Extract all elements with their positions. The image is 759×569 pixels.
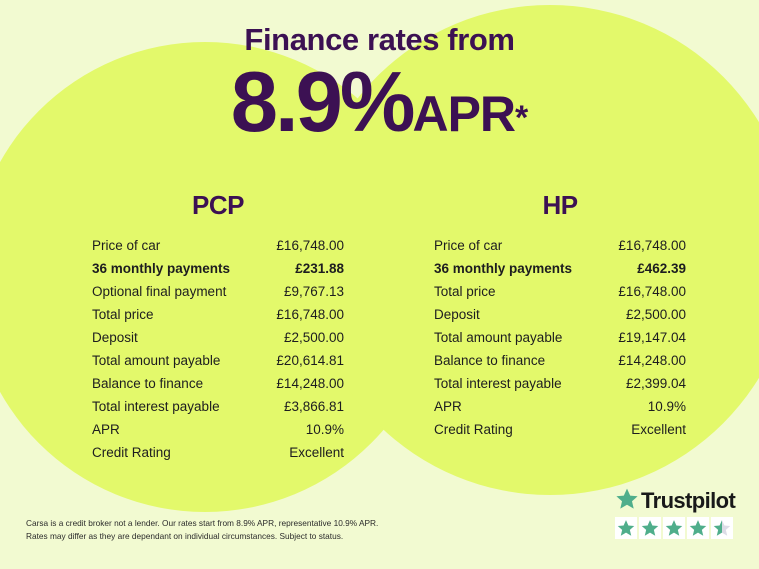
plan-row: Total price£16,748.00 (92, 307, 344, 330)
promo-banner: Finance rates from 8.9%APR* PCP Price of… (0, 0, 759, 569)
trustpilot-star-2 (639, 517, 661, 539)
trustpilot-star-1 (615, 517, 637, 539)
trustpilot-name: Trustpilot (641, 490, 735, 512)
trustpilot-star-icon (615, 487, 639, 516)
plan-row: Total interest payable£2,399.04 (434, 376, 686, 399)
plan-row-value: £2,500.00 (284, 330, 344, 345)
headline-rate: 8.9%APR* (0, 60, 759, 145)
plan-row: APR10.9% (92, 422, 344, 445)
plan-row-value: £2,399.04 (626, 376, 686, 391)
plan-row-value: 10.9% (306, 422, 344, 437)
page-title: Finance rates from (0, 22, 759, 58)
plan-row: Credit RatingExcellent (92, 445, 344, 468)
plan-table-pcp: PCP Price of car£16,748.0036 monthly pay… (92, 190, 344, 468)
trustpilot-star-5 (711, 517, 733, 539)
plan-row-value: £14,248.00 (618, 353, 686, 368)
plan-row: Total interest payable£3,866.81 (92, 399, 344, 422)
plan-row-label: Total interest payable (434, 376, 562, 391)
plan-row-label: Total amount payable (92, 353, 220, 368)
plan-row-label: Credit Rating (434, 422, 513, 437)
plan-rows-hp: Price of car£16,748.0036 monthly payment… (434, 238, 686, 445)
disclaimer-line-2: Rates may differ as they are dependant o… (26, 530, 446, 543)
plan-row-value: 10.9% (648, 399, 686, 414)
plan-row-value: £2,500.00 (626, 307, 686, 322)
rate-value: 8.9% (231, 55, 413, 150)
plan-row-label: 36 monthly payments (92, 261, 230, 276)
plan-row: Balance to finance£14,248.00 (92, 376, 344, 399)
plan-row-value: £16,748.00 (618, 284, 686, 299)
plan-row-label: Deposit (434, 307, 480, 322)
plan-row-value: £462.39 (637, 261, 686, 276)
trustpilot-rating-stars (615, 517, 735, 539)
plan-title-pcp: PCP (92, 190, 344, 221)
plan-row-label: Credit Rating (92, 445, 171, 460)
plan-row-label: 36 monthly payments (434, 261, 572, 276)
plan-row: Price of car£16,748.00 (92, 238, 344, 261)
plan-title-hp: HP (434, 190, 686, 221)
plan-row: Credit RatingExcellent (434, 422, 686, 445)
plan-row: Price of car£16,748.00 (434, 238, 686, 261)
plan-row-label: Balance to finance (434, 353, 545, 368)
plan-row-value: £19,147.04 (618, 330, 686, 345)
plan-row-label: APR (92, 422, 120, 437)
plan-table-hp: HP Price of car£16,748.0036 monthly paym… (434, 190, 686, 445)
rate-asterisk: * (515, 99, 528, 137)
plan-rows-pcp: Price of car£16,748.0036 monthly payment… (92, 238, 344, 468)
plan-row: Total amount payable£19,147.04 (434, 330, 686, 353)
trustpilot-widget[interactable]: Trustpilot (615, 488, 735, 539)
plan-row: Deposit£2,500.00 (92, 330, 344, 353)
trustpilot-star-4 (687, 517, 709, 539)
plan-row-value: £20,614.81 (276, 353, 344, 368)
plan-row-label: Price of car (92, 238, 160, 253)
plan-row-value: £3,866.81 (284, 399, 344, 414)
plan-row: Total amount payable£20,614.81 (92, 353, 344, 376)
plan-row-value: Excellent (631, 422, 686, 437)
plan-row-value: £231.88 (295, 261, 344, 276)
plan-row: APR10.9% (434, 399, 686, 422)
disclaimer-line-1: Carsa is a credit broker not a lender. O… (26, 517, 446, 530)
rate-unit: APR (412, 86, 515, 142)
plan-row-label: APR (434, 399, 462, 414)
trustpilot-wordmark: Trustpilot (615, 488, 735, 514)
plan-row: Total price£16,748.00 (434, 284, 686, 307)
banner-content: Finance rates from 8.9%APR* PCP Price of… (0, 0, 759, 569)
plan-row: Deposit£2,500.00 (434, 307, 686, 330)
plan-row-value: Excellent (289, 445, 344, 460)
trustpilot-star-3 (663, 517, 685, 539)
plan-row-label: Total price (92, 307, 154, 322)
plan-row-value: £9,767.13 (284, 284, 344, 299)
plan-row-value: £16,748.00 (276, 238, 344, 253)
plan-row-label: Deposit (92, 330, 138, 345)
plan-row: 36 monthly payments£462.39 (434, 261, 686, 284)
disclaimer-text: Carsa is a credit broker not a lender. O… (26, 517, 446, 543)
plan-row-label: Price of car (434, 238, 502, 253)
plan-row: Balance to finance£14,248.00 (434, 353, 686, 376)
plan-row-value: £16,748.00 (618, 238, 686, 253)
plan-row-value: £14,248.00 (276, 376, 344, 391)
plan-row-label: Total amount payable (434, 330, 562, 345)
plan-row: 36 monthly payments£231.88 (92, 261, 344, 284)
plan-row-label: Balance to finance (92, 376, 203, 391)
plan-row: Optional final payment£9,767.13 (92, 284, 344, 307)
plan-row-label: Optional final payment (92, 284, 226, 299)
plan-row-label: Total interest payable (92, 399, 220, 414)
plan-row-label: Total price (434, 284, 496, 299)
plan-row-value: £16,748.00 (276, 307, 344, 322)
